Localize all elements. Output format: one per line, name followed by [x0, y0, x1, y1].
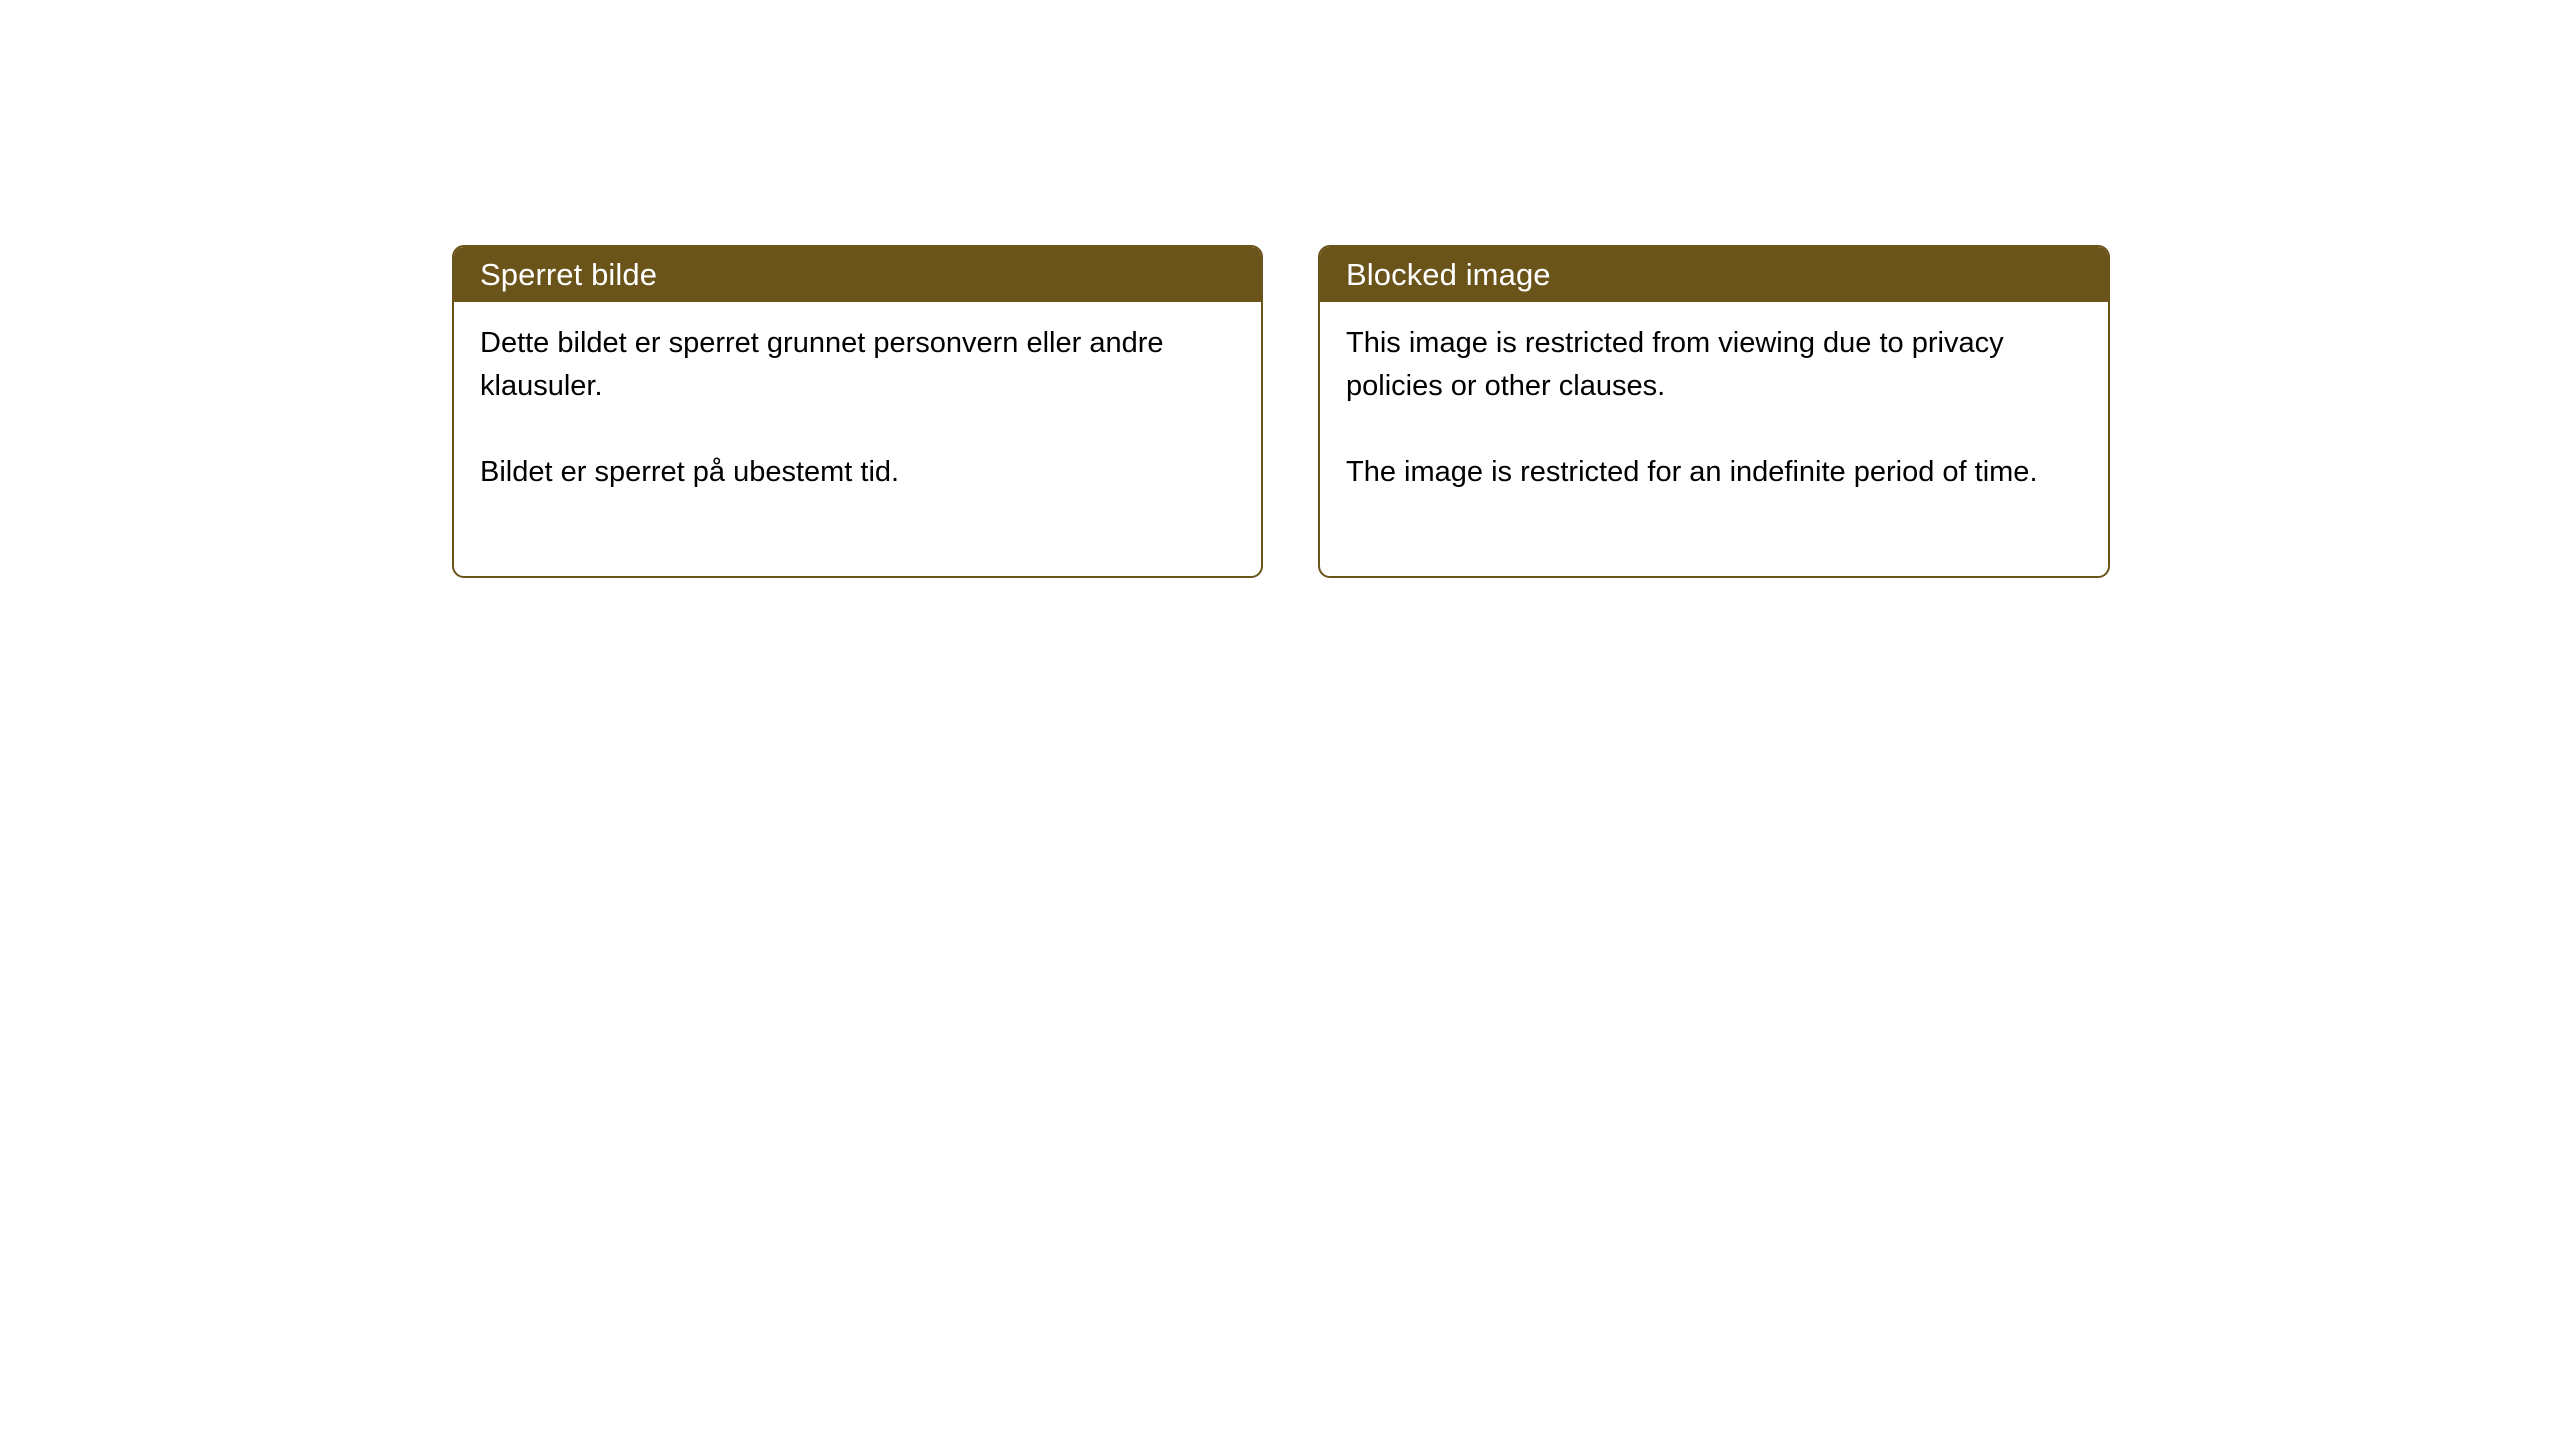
notice-paragraph: This image is restricted from viewing du… [1346, 322, 2082, 408]
notice-header-no: Sperret bilde [454, 247, 1261, 302]
notice-title-no: Sperret bilde [480, 257, 657, 293]
notice-title-en: Blocked image [1346, 257, 1551, 293]
blocked-image-notice-en: Blocked image This image is restricted f… [1318, 245, 2110, 578]
notice-header-en: Blocked image [1320, 247, 2108, 302]
notice-paragraph: The image is restricted for an indefinit… [1346, 451, 2082, 494]
notice-paragraph: Dette bildet er sperret grunnet personve… [480, 322, 1235, 408]
blocked-image-notice-row: Sperret bilde Dette bildet er sperret gr… [452, 245, 2110, 578]
blocked-image-notice-no: Sperret bilde Dette bildet er sperret gr… [452, 245, 1263, 578]
notice-body-no: Dette bildet er sperret grunnet personve… [454, 302, 1261, 576]
notice-body-en: This image is restricted from viewing du… [1320, 302, 2108, 576]
page-canvas: Sperret bilde Dette bildet er sperret gr… [0, 0, 2560, 1440]
notice-paragraph: Bildet er sperret på ubestemt tid. [480, 451, 1235, 494]
